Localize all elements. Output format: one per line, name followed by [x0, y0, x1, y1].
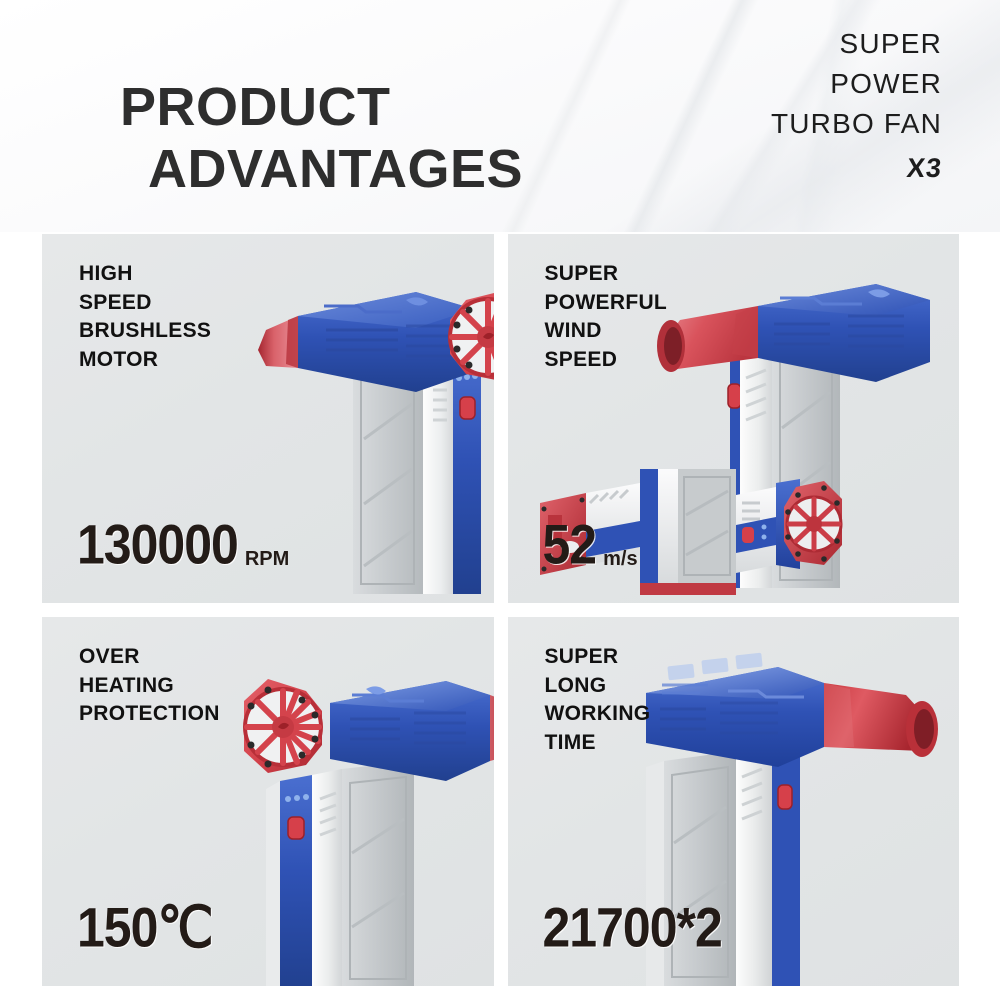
advantage-card-title: SUPER POWERFUL WIND SPEED: [545, 260, 668, 374]
advantage-card-value-number: 150℃: [77, 895, 213, 960]
advantages-grid: HIGH SPEED BRUSHLESS MOTOR: [42, 234, 959, 986]
tagline-line-2: POWER: [771, 64, 942, 104]
advantage-card-title-line-1: HIGH: [79, 260, 211, 289]
fan-handle: [266, 761, 414, 986]
page-header: PRODUCT ADVANTAGES SUPER POWER TURBO FAN…: [0, 0, 1000, 232]
advantage-card-title-line-4: MOTOR: [79, 346, 211, 375]
fan-rear-nozzle: [490, 695, 494, 761]
advantage-card-value: 52m/s: [543, 519, 638, 577]
advantage-card-title-line-4: SPEED: [545, 346, 668, 375]
advantage-card-title-line-1: SUPER: [545, 260, 668, 289]
fan-body: [330, 681, 490, 781]
page-title-line-1: PRODUCT: [120, 76, 523, 138]
advantage-card-title-line-2: SPEED: [79, 289, 211, 318]
advantage-card-title: OVER HEATING PROTECTION: [79, 643, 220, 729]
advantage-card-value-unit: RPM: [245, 548, 289, 570]
product-image-turbo-fan: [232, 639, 494, 986]
advantage-card-value-unit: m/s: [603, 548, 637, 570]
tagline-line-3: TURBO FAN: [771, 104, 942, 144]
advantage-card-title-line-3: PROTECTION: [79, 700, 220, 729]
page-title: PRODUCT ADVANTAGES: [120, 76, 523, 200]
advantage-card-high-speed-brushless-motor[interactable]: HIGH SPEED BRUSHLESS MOTOR: [42, 234, 494, 603]
fan-side-head: [736, 479, 842, 573]
advantage-card-value: 130000RPM: [77, 519, 289, 577]
advantage-card-title-line-3: BRUSHLESS: [79, 317, 211, 346]
fan-rear-nozzle: [258, 316, 298, 368]
advantage-card-title-line-3: WORKING: [545, 700, 651, 729]
advantage-card-title-line-2: LONG: [545, 672, 651, 701]
advantage-card-title-line-4: TIME: [545, 729, 651, 758]
advantage-card-title: HIGH SPEED BRUSHLESS MOTOR: [79, 260, 211, 374]
advantage-card-value: 21700*2: [543, 902, 729, 960]
advantage-card-over-heating-protection[interactable]: OVER HEATING PROTECTION: [42, 617, 494, 986]
advantage-card-super-powerful-wind-speed[interactable]: SUPER POWERFUL WIND SPEED: [508, 234, 960, 603]
product-tagline: SUPER POWER TURBO FAN X3: [771, 24, 942, 188]
turbo-fan-illustration: [232, 639, 494, 986]
advantage-card-value-number: 52: [543, 512, 597, 577]
advantage-card-title-line-1: SUPER: [545, 643, 651, 672]
advantage-card-title-line-1: OVER: [79, 643, 220, 672]
tagline-line-1: SUPER: [771, 24, 942, 64]
advantage-card-title-line-2: HEATING: [79, 672, 220, 701]
advantage-card-value-number: 21700*2: [543, 895, 722, 960]
advantage-card-title-line-3: WIND: [545, 317, 668, 346]
advantage-card-value: 150℃: [77, 902, 220, 960]
fan-body: [298, 292, 474, 392]
fan-output-nozzle: [824, 683, 938, 757]
page-title-line-2: ADVANTAGES: [120, 138, 523, 200]
fan-body: [646, 653, 824, 767]
fan-battery-column: [640, 469, 736, 595]
advantage-card-title-line-2: POWERFUL: [545, 289, 668, 318]
product-model-badge: X3: [905, 148, 944, 188]
advantage-card-title: SUPER LONG WORKING TIME: [545, 643, 651, 757]
advantage-card-super-long-working-time[interactable]: SUPER LONG WORKING TIME: [508, 617, 960, 986]
fan-intake-grille: [244, 679, 322, 773]
advantage-card-value-number: 130000: [77, 512, 238, 577]
